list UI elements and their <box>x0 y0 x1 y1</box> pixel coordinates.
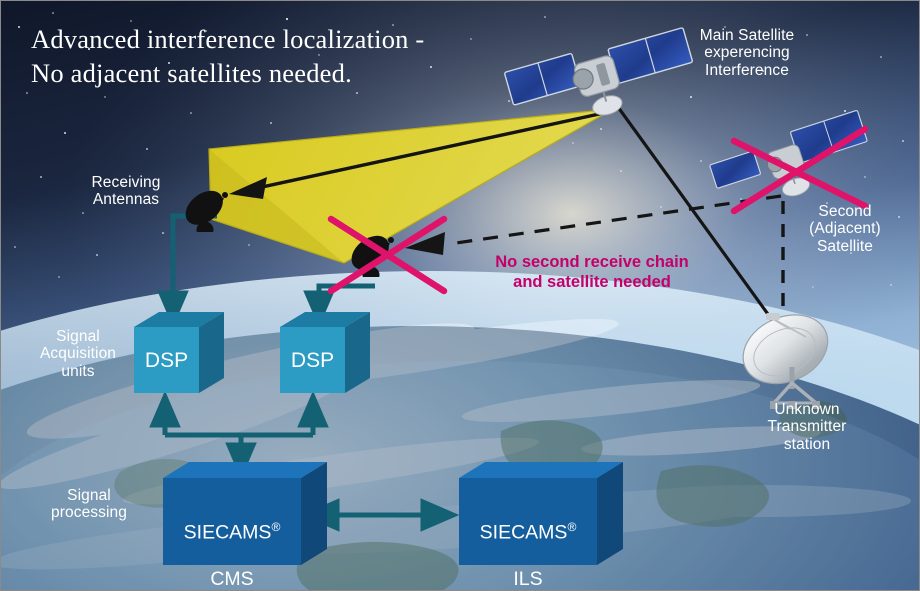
siecams-cms-box[interactable] <box>163 462 327 565</box>
warning-text: No second receive chain and satellite ne… <box>456 253 728 293</box>
label-signal-processing: Signal processing <box>29 487 149 522</box>
dsp-box-right[interactable] <box>280 312 370 393</box>
siecams-ils-box[interactable] <box>459 462 623 565</box>
dsp-box-left[interactable] <box>134 312 224 393</box>
label-receiving-antennas: Receiving Antennas <box>71 174 181 209</box>
label-main-satellite: Main Satellite experencing Interference <box>677 27 817 79</box>
label-unknown-transmitter: Unknown Transmitter station <box>743 401 871 453</box>
page-title: Advanced interference localization - No … <box>31 23 424 91</box>
label-signal-acquisition: Signal Acquisition units <box>23 328 133 380</box>
label-second-satellite: Second (Adjacent) Satellite <box>781 203 909 255</box>
diagram-canvas: Advanced interference localization - No … <box>0 0 920 591</box>
